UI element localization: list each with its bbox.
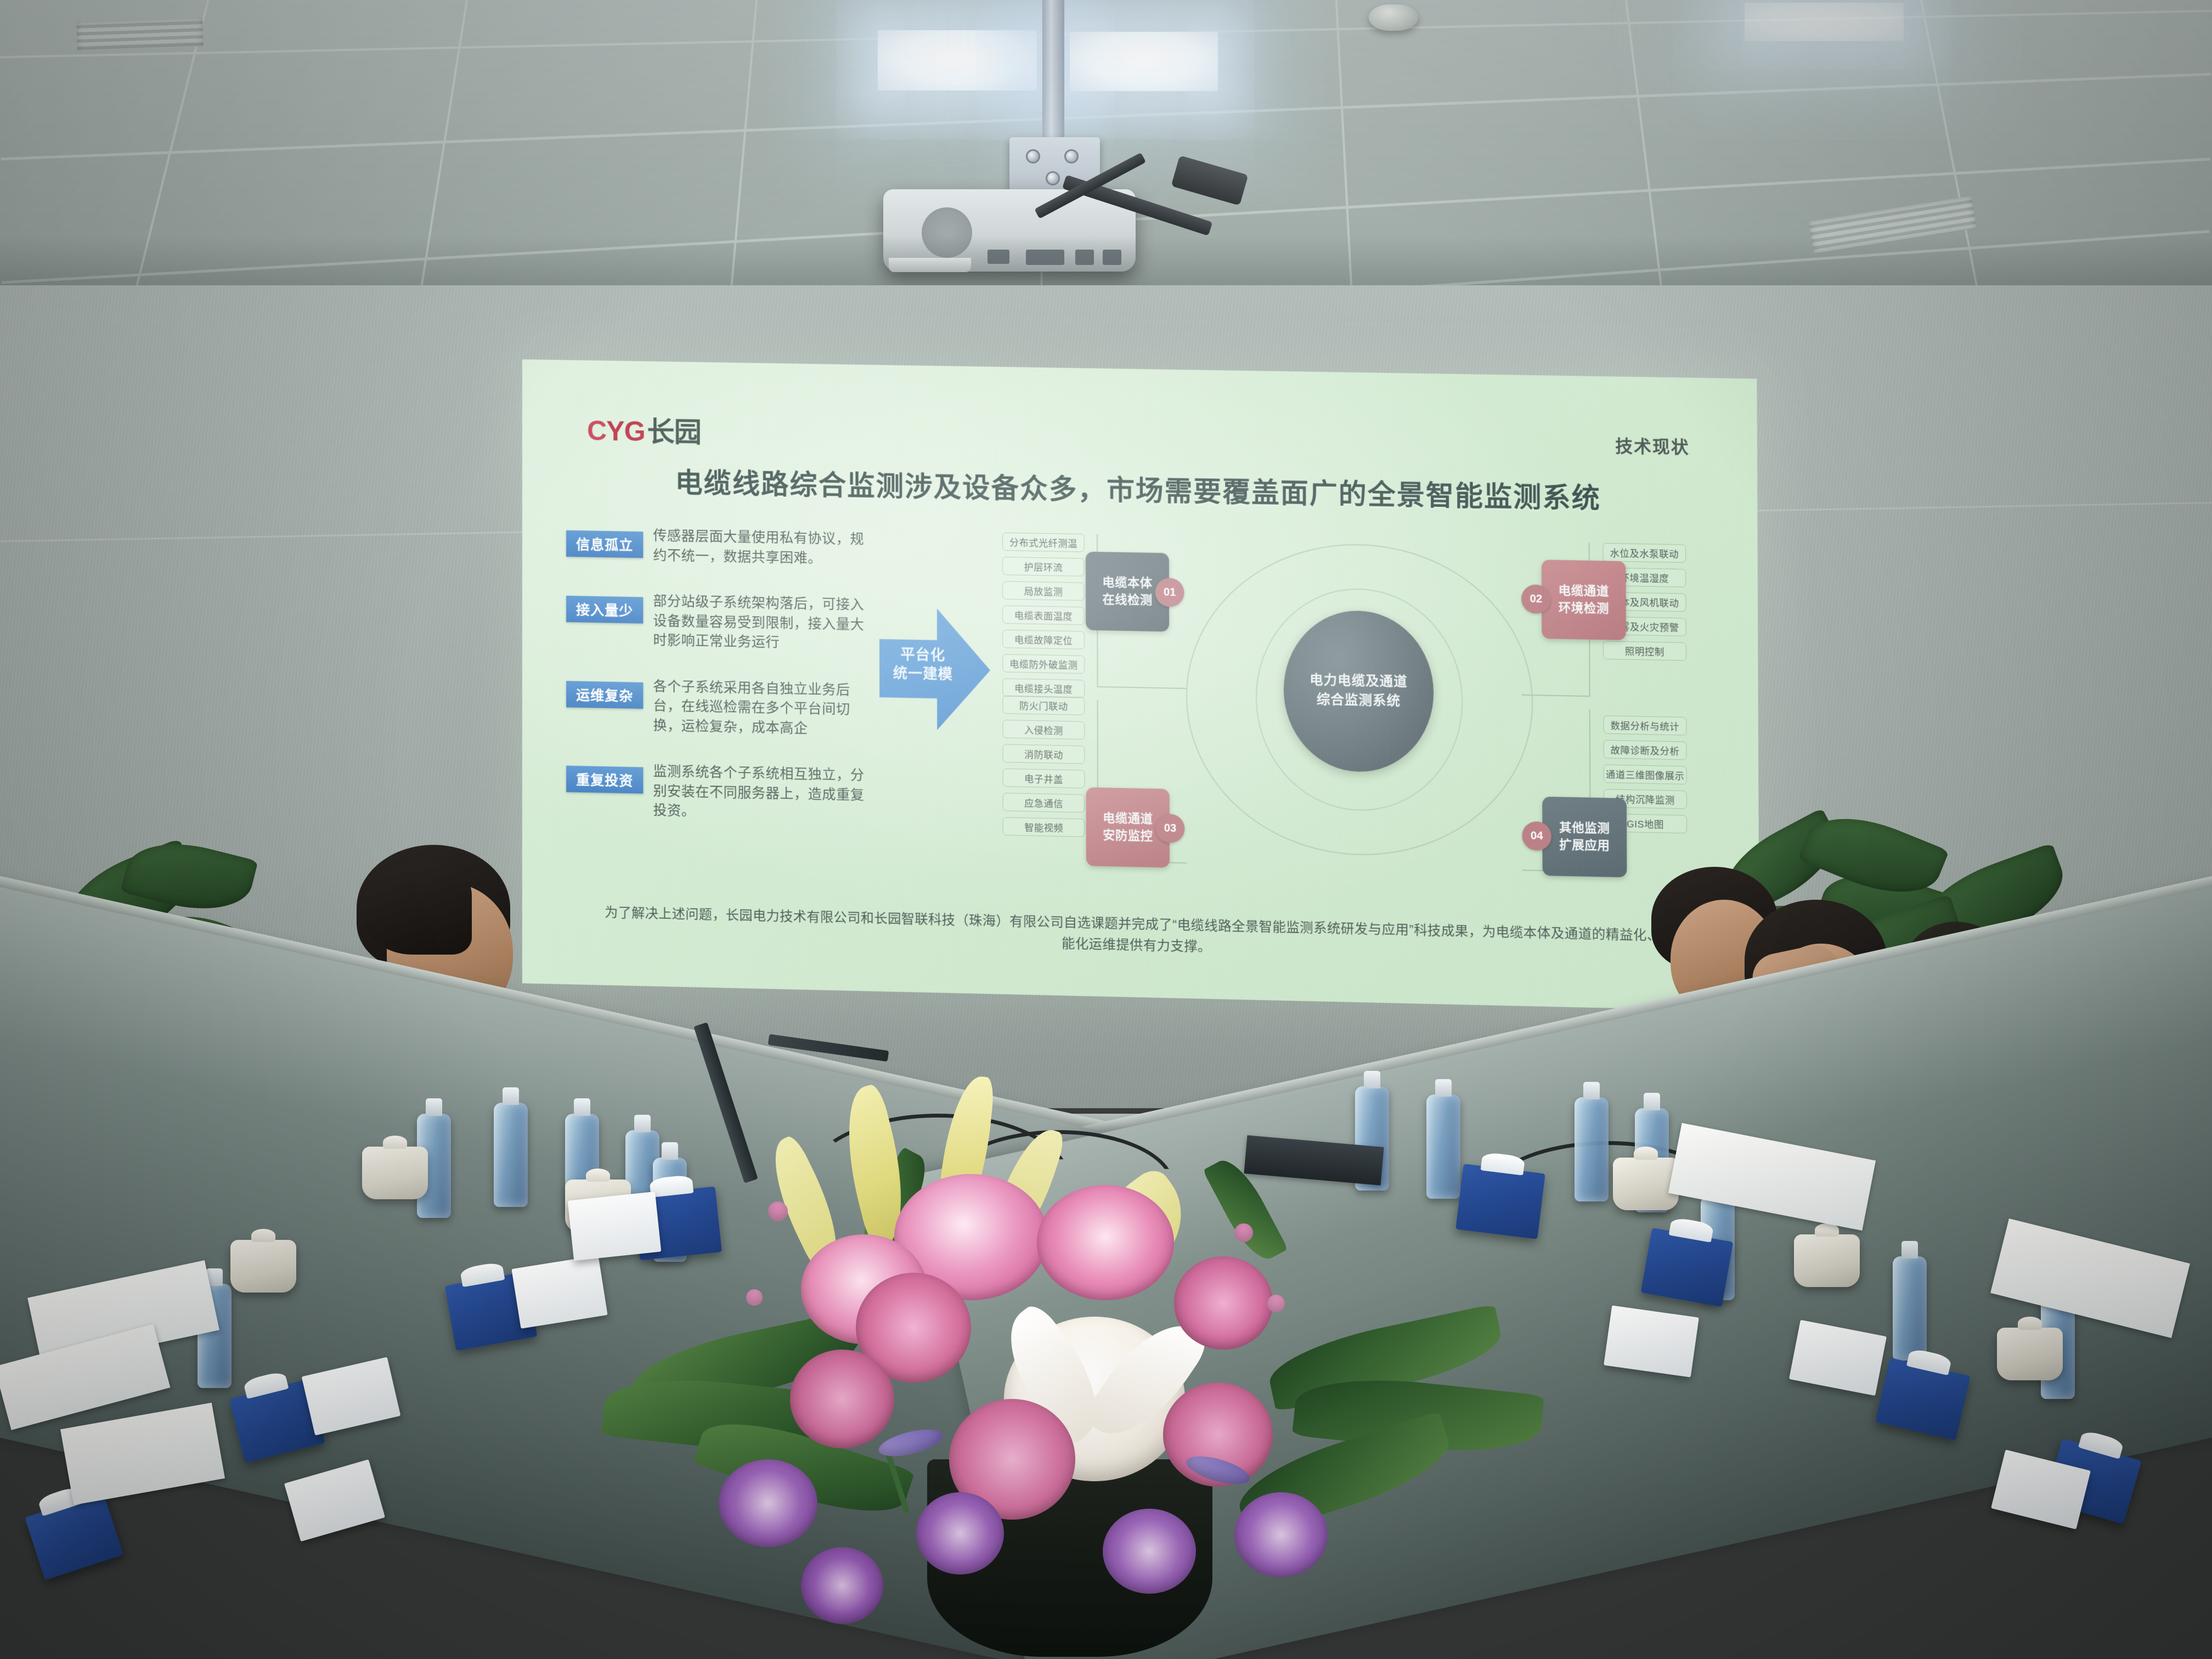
arrow-label-line1: 平台化 (888, 645, 957, 665)
issue-tag: 重复投资 (566, 766, 643, 794)
ceiling-light-panel (1070, 32, 1218, 91)
chip: 应急通信 (1003, 793, 1085, 812)
quadrant-04-number: 04 (1522, 821, 1551, 851)
chip: 分布式光纤测温 (1002, 533, 1085, 552)
slide-footer-text: 为了解决上述问题，长园电力技术有限公司和长园智联科技（珠海）有限公司自选课题并完… (599, 902, 1680, 969)
company-logo: CYG长园 (587, 409, 701, 450)
tea-cup[interactable] (1794, 1234, 1860, 1287)
issue-row: 接入量少 部分站级子系统架构落后，可接入设备数量容易受到限制，接入量大时影响正常… (566, 590, 875, 654)
issue-row: 运维复杂 各个子系统采用各自独立业务后台，在线巡检需在多个平台间切换，运检复杂，… (566, 675, 875, 740)
issue-text: 部分站级子系统架构落后，可接入设备数量容易受到限制，接入量大时影响正常业务运行 (653, 592, 868, 654)
quadrant-01-number: 01 (1155, 578, 1184, 607)
ceiling (0, 0, 2212, 329)
platform-arrow: 平台化 统一建模 (879, 607, 990, 731)
issue-row: 重复投资 监测系统各个子系统相互独立，分别安装在不同服务器上，造成重复投资。 (566, 760, 875, 826)
ceiling-light-panel (1745, 3, 1904, 41)
name-card (1604, 1305, 1699, 1377)
tissue-box[interactable] (1641, 1228, 1734, 1307)
projector-mount-pole (1042, 0, 1064, 143)
presentation-slide: CYG长园 技术现状 电缆线路综合监测涉及设备众多，市场需要覆盖面广的全景智能监… (522, 359, 1759, 1012)
quadrant-02: 电缆通道 环境检测 (1542, 560, 1626, 640)
quadrant-03-number: 03 (1155, 814, 1184, 843)
chip: 防火门联动 (1002, 696, 1085, 715)
hub-line1: 电力电缆及通道 (1310, 671, 1408, 692)
slide-section-label: 技术现状 (1615, 432, 1690, 459)
chip: 智能视频 (1003, 817, 1085, 837)
quadrant-04-line1: 其他监测 (1559, 819, 1610, 837)
chip: 电子井盖 (1003, 769, 1085, 788)
quadrant-03-line1: 电缆通道 (1103, 810, 1153, 828)
smoke-detector (1369, 4, 1418, 31)
chip: 电缆表面温度 (1002, 605, 1085, 625)
issues-list: 信息孤立 传感器层面大量使用私有协议，规约不统一，数据共享困难。 接入量少 部分… (566, 525, 875, 852)
logo-chinese-text: 长园 (647, 416, 701, 448)
issue-text: 各个子系统采用各自独立业务后台，在线巡检需在多个平台间切换，运检复杂，成本高企 (653, 677, 868, 740)
chip: 水位及水泵联动 (1602, 543, 1686, 563)
slide-title: 电缆线路综合监测涉及设备众多，市场需要覆盖面广的全景智能监测系统 (522, 458, 1757, 519)
issue-text: 传感器层面大量使用私有协议，规约不统一，数据共享困难。 (653, 526, 868, 569)
orchid-purple (916, 1492, 1004, 1575)
chip: 数据分析与统计 (1603, 715, 1686, 735)
water-bottle[interactable] (494, 1103, 528, 1207)
quadrant-03-line2: 安防监控 (1103, 827, 1153, 845)
air-vent (76, 17, 204, 51)
quadrant-02-line2: 环境检测 (1559, 600, 1609, 618)
tea-cup[interactable] (1997, 1328, 2063, 1380)
chip: 入侵检测 (1002, 720, 1085, 740)
chip: 护层环流 (1002, 557, 1085, 577)
hub-line2: 综合监测系统 (1310, 690, 1408, 712)
arrow-label: 平台化 统一建模 (888, 645, 957, 684)
quadrant-01-line2: 在线检测 (1102, 591, 1152, 610)
issue-tag: 运维复杂 (566, 681, 643, 709)
arrow-label-line2: 统一建模 (888, 664, 957, 684)
rose-pink (1174, 1256, 1273, 1350)
chip: 电缆故障定位 (1002, 630, 1085, 650)
conference-room-scene: CYG长园 技术现状 电缆线路综合监测涉及设备众多，市场需要覆盖面广的全景智能监… (0, 0, 2212, 1659)
quadrant-04: 其他监测 扩展应用 (1542, 797, 1627, 877)
issue-tag: 信息孤立 (566, 531, 643, 558)
quadrant-02-line1: 电缆通道 (1559, 582, 1609, 600)
chip: 故障诊断及分析 (1604, 740, 1687, 760)
orchid-purple (801, 1547, 883, 1624)
tea-cup[interactable] (1613, 1158, 1679, 1210)
quadrant-02-number: 02 (1521, 584, 1550, 614)
quadrant-01-line1: 电缆本体 (1102, 574, 1152, 592)
chip: 消防联动 (1003, 744, 1085, 764)
tissue-box[interactable] (25, 1492, 123, 1580)
tea-cup[interactable] (362, 1147, 428, 1199)
rose-pink (790, 1350, 894, 1448)
quadrant-04-line2: 扩展应用 (1559, 837, 1610, 855)
orchid-purple (1234, 1492, 1328, 1577)
issue-text: 监测系统各个子系统相互独立，分别安装在不同服务器上，造成重复投资。 (653, 762, 869, 825)
lily-pink (1037, 1185, 1174, 1300)
chip-group-security: 防火门联动 入侵检测 消防联动 电子井盖 应急通信 智能视频 (1002, 696, 1085, 843)
floral-centerpiece (620, 1075, 1585, 1659)
orchid-purple (1103, 1509, 1196, 1594)
orchid-purple (719, 1459, 817, 1547)
chip: 照明控制 (1603, 641, 1686, 661)
chip: 局放监测 (1002, 581, 1085, 601)
issue-tag: 接入量少 (566, 596, 643, 624)
chip: 通道三维图像展示 (1604, 764, 1687, 785)
chip: 电缆防外破监测 (1002, 654, 1085, 674)
projection-screen: CYG长园 技术现状 电缆线路综合监测涉及设备众多，市场需要覆盖面广的全景智能监… (522, 359, 1759, 1012)
chip-group-cable-body: 分布式光纤测温 护层环流 局放监测 电缆表面温度 电缆故障定位 电缆防外破监测 … (1002, 533, 1085, 704)
issue-row: 信息孤立 传感器层面大量使用私有协议，规约不统一，数据共享困难。 (566, 525, 875, 569)
tea-cup[interactable] (230, 1240, 296, 1293)
water-bottle[interactable] (1893, 1256, 1927, 1361)
ceiling-light-panel (878, 30, 1037, 91)
